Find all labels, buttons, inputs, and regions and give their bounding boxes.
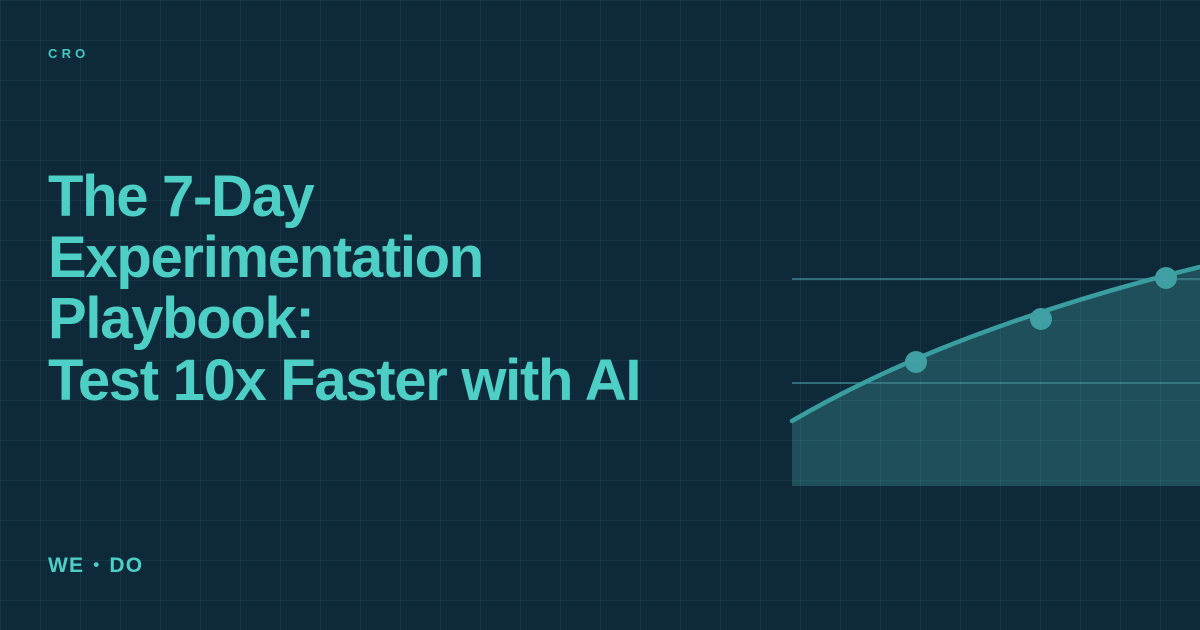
card-content: CRO The 7-Day Experimentation Playbook: … [0,0,1200,630]
page-title: The 7-Day Experimentation Playbook: Test… [48,166,748,411]
headline-line-3: Playbook: [48,288,748,349]
brand-logo: WE • DO [48,555,143,576]
headline-line-1: The 7-Day [48,166,748,227]
category-eyebrow-label: CRO [48,47,90,60]
brand-separator-dot-icon: • [93,556,100,573]
headline-line-2: Experimentation [48,227,748,288]
social-share-card: CRO The 7-Day Experimentation Playbook: … [0,0,1200,630]
brand-word-two: DO [109,555,143,576]
brand-word-one: WE [48,555,84,576]
headline-line-4: Test 10x Faster with AI [48,350,748,411]
